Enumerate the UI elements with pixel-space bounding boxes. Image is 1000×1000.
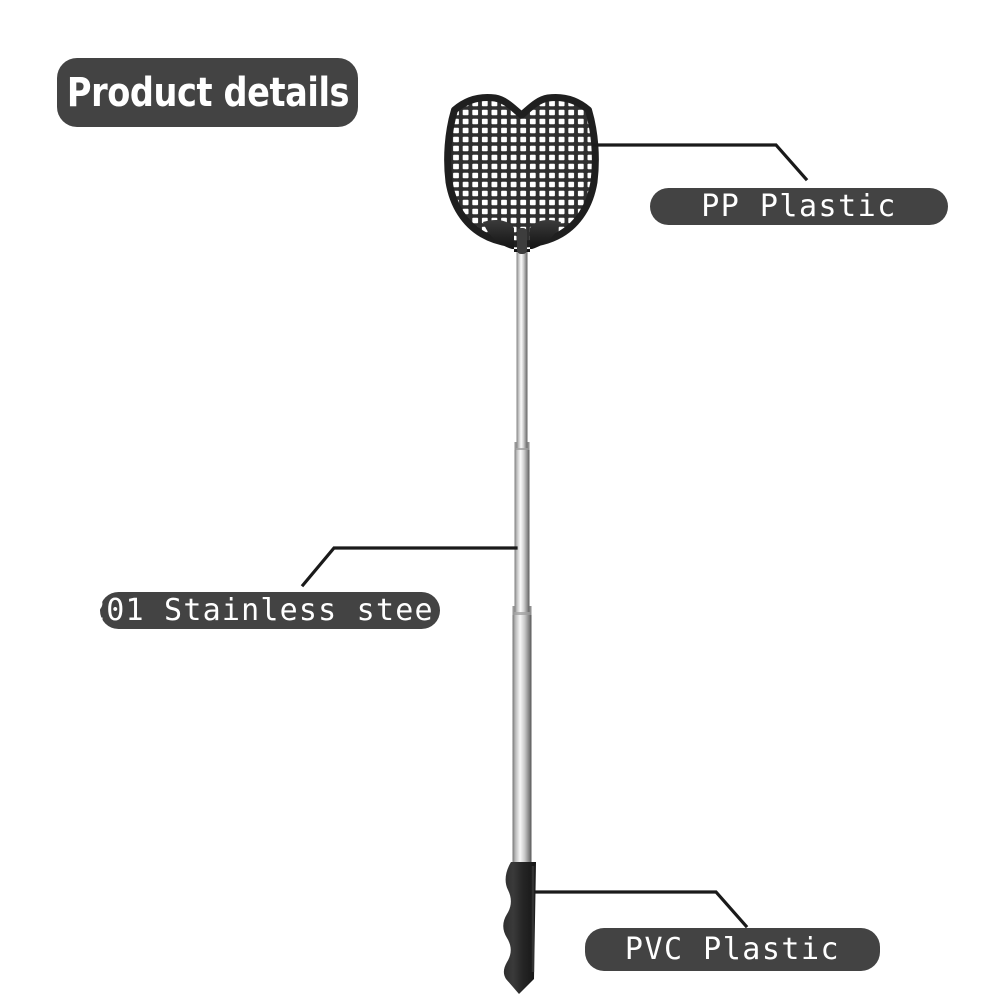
callout-pp-plastic-label: PP Plastic xyxy=(701,192,897,222)
callout-stainless-steel: 201 Stainless steel xyxy=(100,592,440,629)
callout-pvc-plastic-label: PVC Plastic xyxy=(625,935,840,965)
telescoping-rod xyxy=(513,249,532,874)
leader-line-pp-plastic xyxy=(594,145,806,179)
product-illustration xyxy=(0,0,1000,1000)
callout-stainless-steel-label: 201 Stainless steel xyxy=(87,596,453,626)
swatter-head xyxy=(440,92,600,254)
page-title: Product details xyxy=(57,58,358,127)
product-details-image: Product details PP Plastic 201 Stainless… xyxy=(0,0,1000,1000)
callout-pp-plastic: PP Plastic xyxy=(650,188,948,225)
page-title-label: Product details xyxy=(66,73,348,113)
leader-line-stainless-steel xyxy=(303,548,516,585)
callout-pvc-plastic: PVC Plastic xyxy=(585,928,880,971)
leader-line-pvc-plastic xyxy=(537,892,746,926)
handle-grip xyxy=(503,862,536,994)
